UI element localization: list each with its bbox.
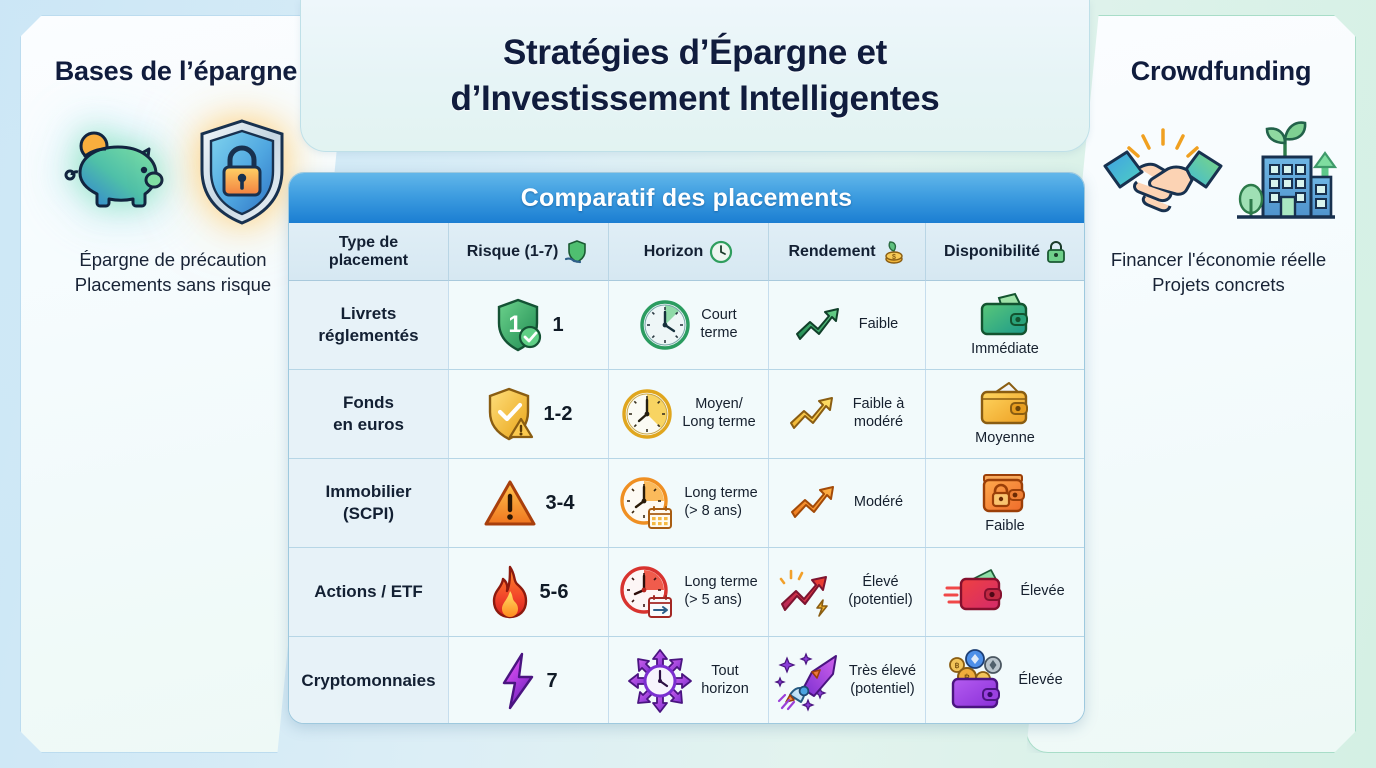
money-plant-icon: $ [882, 239, 906, 265]
header-type-line-1: Type de [339, 234, 398, 251]
cell-type-4: Cryptomonnaies [289, 637, 449, 724]
row-1-risk-value: 1-2 [544, 403, 573, 426]
cell-disponibilite-4: ฿ ฿ Élevée [926, 637, 1084, 724]
cell-disponibilite-2: Faible [926, 459, 1084, 547]
flame-icon [489, 565, 531, 619]
table-row: Livrets réglementés 1 1 [289, 281, 1084, 370]
row-1-horizon-line-2: Long terme [682, 414, 755, 430]
row-4-yield-line-1: Très élevé [849, 663, 916, 679]
row-2-horizon-line-2: (> 8 ans) [684, 503, 742, 519]
row-2-horizon-line-1: Long terme [684, 485, 757, 501]
cell-risque-3: 5-6 [449, 548, 609, 636]
amber-shield-warning-icon [485, 386, 535, 442]
table-row: Immobilier (SCPI) 3-4 [289, 459, 1084, 548]
green-building-growth-icon [1233, 113, 1337, 231]
cell-risque-2: 3-4 [449, 459, 609, 547]
row-4-risk-value: 7 [546, 670, 557, 693]
green-clock-icon [639, 299, 691, 351]
cell-risque-0: 1 1 [449, 281, 609, 369]
clock-icon [709, 240, 733, 264]
green-shield-check-icon: 1 [493, 297, 543, 353]
row-2-type-line-1: Immobilier [326, 482, 412, 501]
row-3-yield-line-1: Élevé [862, 574, 898, 590]
cell-rendement-1-label: Faible à modéré [853, 396, 905, 432]
row-4-avail-label: Élevée [1018, 672, 1062, 690]
row-1-type-line-1: Fonds [343, 393, 394, 412]
purple-rocket-icon [778, 652, 840, 710]
cell-rendement-0: Faible [769, 281, 926, 369]
svg-text:$: $ [892, 254, 896, 261]
column-header-disponibilite: Disponibilité [926, 223, 1084, 281]
row-0-type-line-2: réglementés [318, 326, 418, 345]
right-caption-line-1: Financer l'économie réelle [1082, 248, 1355, 273]
cell-horizon-3: Long terme (> 5 ans) [609, 548, 769, 636]
cell-rendement-4: Très élevé (potentiel) [769, 637, 926, 724]
cell-rendement-2: Modéré [769, 459, 926, 547]
row-2-risk-value: 3-4 [546, 492, 575, 515]
orange-warning-triangle-icon [483, 478, 537, 528]
header-type-line-2: placement [329, 252, 408, 269]
purple-lightning-icon [499, 652, 537, 710]
purple-crypto-wallet-icon: ฿ ฿ [947, 651, 1009, 711]
cell-type-1: Fonds en euros [289, 370, 449, 458]
cell-type-0: Livrets réglementés [289, 281, 449, 369]
red-arrow-spark-icon [781, 566, 839, 618]
row-4-yield-line-2: (potentiel) [850, 681, 914, 697]
left-caption-line-2: Placements sans risque [21, 273, 325, 298]
piggy-bank-icon [56, 123, 176, 221]
cell-rendement-4-label: Très élevé (potentiel) [849, 663, 916, 699]
cell-disponibilite-3: Élevée [926, 548, 1084, 636]
svg-text:฿: ฿ [955, 661, 960, 670]
shield-lock-icon [194, 117, 290, 227]
header-horizon-label: Horizon [644, 243, 704, 261]
row-3-horizon-line-2: (> 5 ans) [684, 592, 742, 608]
header-disponibilite-label: Disponibilité [944, 243, 1040, 261]
row-0-avail-label: Immédiate [971, 341, 1039, 359]
orange-wallet-lock-icon [979, 471, 1031, 515]
row-3-yield-line-2: (potentiel) [848, 592, 912, 608]
cell-horizon-0: Court terme [609, 281, 769, 369]
row-3-avail-label: Élevée [1020, 583, 1064, 601]
row-1-yield-line-1: Faible à [853, 396, 905, 412]
row-0-risk-value: 1 [552, 314, 563, 337]
table-header-row: Type de placement Risque (1-7) Horizon [289, 223, 1084, 281]
row-4-type-line-1: Cryptomonnaies [301, 670, 435, 692]
cell-type-2: Immobilier (SCPI) [289, 459, 449, 547]
red-wallet-speed-icon [945, 567, 1011, 617]
column-header-risque: Risque (1-7) [449, 223, 609, 281]
row-2-avail-label: Faible [985, 518, 1025, 536]
left-caption-line-1: Épargne de précaution [21, 248, 325, 273]
cell-risque-1: 1-2 [449, 370, 609, 458]
column-header-rendement: Rendement $ [769, 223, 926, 281]
row-2-type-line-2: (SCPI) [343, 504, 394, 523]
row-3-risk-value: 5-6 [540, 581, 569, 604]
cell-type-3: Actions / ETF [289, 548, 449, 636]
cell-disponibilite-0: Immédiate [926, 281, 1084, 369]
right-caption-line-2: Projets concrets [1082, 273, 1355, 298]
cell-horizon-1-label: Moyen/ Long terme [682, 396, 755, 432]
table-title: Comparatif des placements [289, 173, 1084, 223]
cell-risque-4: 7 [449, 637, 609, 724]
row-0-horizon-line-1: Court [701, 307, 736, 323]
cell-rendement-3-label: Élevé (potentiel) [848, 574, 912, 610]
amber-wallet-icon [977, 381, 1033, 427]
infographic-canvas: Bases de l’épargne [0, 0, 1376, 768]
row-2-yield-label: Modéré [854, 494, 903, 512]
red-clock-calendar-icon [619, 565, 675, 619]
header-risque-label: Risque (1-7) [467, 243, 559, 261]
row-0-horizon-line-2: terme [700, 325, 737, 341]
header-rendement-label: Rendement [788, 243, 875, 261]
cell-horizon-4-label: Tout horizon [701, 663, 749, 699]
padlock-icon [1046, 240, 1066, 264]
amber-clock-icon [621, 388, 673, 440]
purple-clock-arrows-icon [628, 649, 692, 713]
orange-arrow-up-icon [791, 481, 845, 525]
table-row: Cryptomonnaies 7 [289, 637, 1084, 724]
cell-horizon-3-label: Long terme (> 5 ans) [684, 574, 757, 610]
cell-horizon-1: Moyen/ Long terme [609, 370, 769, 458]
row-0-type-line-1: Livrets [341, 304, 397, 323]
amber-arrow-up-icon [790, 392, 844, 436]
row-1-horizon-line-1: Moyen/ [695, 396, 743, 412]
row-1-type-line-2: en euros [333, 415, 404, 434]
header-banner: Stratégies d’Épargne et d’Investissement… [300, 0, 1090, 152]
row-4-horizon-line-2: horizon [701, 681, 749, 697]
page-title-line-1: Stratégies d’Épargne et [451, 30, 940, 76]
row-0-yield-label: Faible [859, 316, 899, 334]
shield-hand-icon [564, 239, 590, 265]
cell-disponibilite-1: Moyenne [926, 370, 1084, 458]
row-1-yield-line-2: modéré [854, 414, 903, 430]
orange-clock-calendar-icon [619, 476, 675, 530]
handshake-icon [1101, 120, 1225, 224]
cell-horizon-2-label: Long terme (> 8 ans) [684, 485, 757, 521]
column-header-horizon: Horizon [609, 223, 769, 281]
row-3-horizon-line-1: Long terme [684, 574, 757, 590]
green-arrow-up-icon [796, 303, 850, 347]
cell-rendement-3: Élevé (potentiel) [769, 548, 926, 636]
page-title: Stratégies d’Épargne et d’Investissement… [411, 30, 980, 122]
cell-rendement-1: Faible à modéré [769, 370, 926, 458]
table-row: Fonds en euros 1-2 [289, 370, 1084, 459]
page-title-line-2: d’Investissement Intelligentes [451, 76, 940, 122]
row-4-horizon-line-1: Tout [711, 663, 738, 679]
column-header-type: Type de placement [289, 223, 449, 281]
row-1-avail-label: Moyenne [975, 430, 1035, 448]
cell-horizon-4: Tout horizon [609, 637, 769, 724]
comparison-table-panel: Comparatif des placements Type de placem… [288, 172, 1085, 724]
cell-horizon-2: Long terme (> 8 ans) [609, 459, 769, 547]
row-3-type-line-1: Actions / ETF [314, 581, 423, 603]
green-wallet-cash-icon [977, 292, 1033, 338]
table-row: Actions / ETF 5-6 [289, 548, 1084, 637]
cell-horizon-0-label: Court terme [700, 307, 737, 343]
